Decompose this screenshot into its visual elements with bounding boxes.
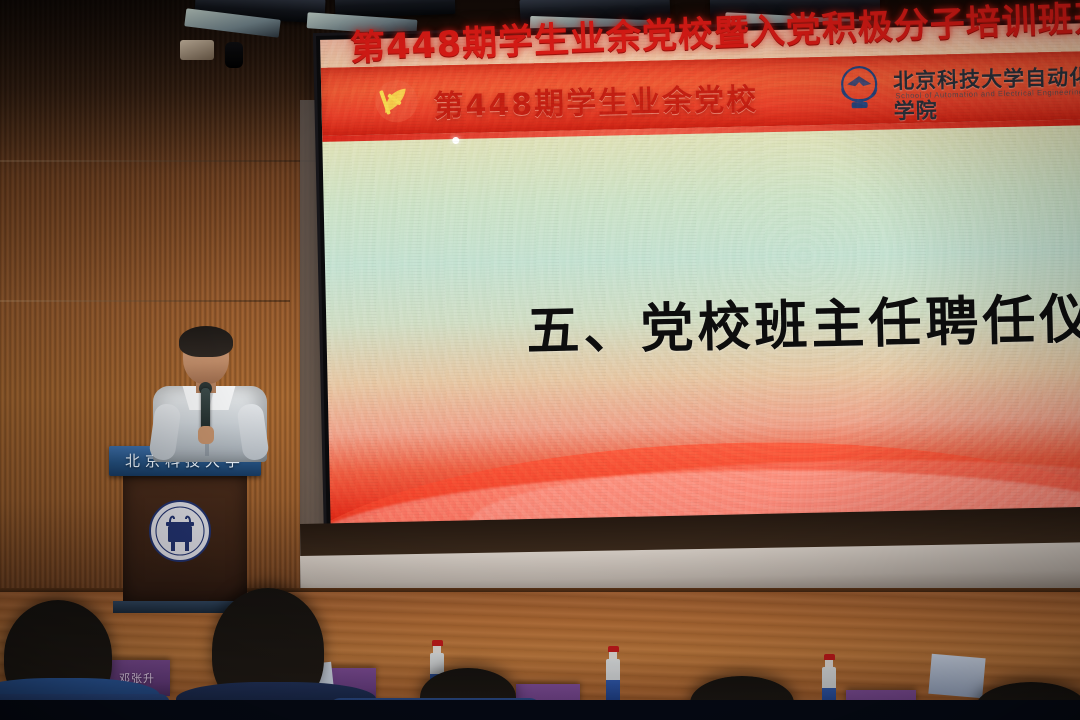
speaker-figure bbox=[150, 330, 270, 455]
wall-seam bbox=[0, 300, 290, 302]
led-screen: 第448期学生业余党校 北京科技大学自动化学院 School of Automa… bbox=[316, 19, 1080, 536]
speaker-hand bbox=[198, 426, 214, 444]
paper-sheet bbox=[928, 654, 985, 699]
podium: 北京科技大学 bbox=[115, 446, 255, 611]
screen-scanline-overlay bbox=[320, 23, 1080, 532]
front-table-shadow bbox=[0, 700, 1080, 720]
water-bottle bbox=[606, 646, 620, 708]
ustb-seal-icon bbox=[147, 498, 213, 564]
slide-surface: 第448期学生业余党校 北京科技大学自动化学院 School of Automa… bbox=[320, 23, 1080, 532]
speaker-hair bbox=[179, 326, 233, 357]
ceiling-lamp-icon bbox=[180, 40, 214, 60]
photo-scene: 第448期学生业余党校 北京科技大学自动化学院 School of Automa… bbox=[0, 0, 1080, 720]
ceiling-lamp-icon bbox=[225, 42, 243, 68]
